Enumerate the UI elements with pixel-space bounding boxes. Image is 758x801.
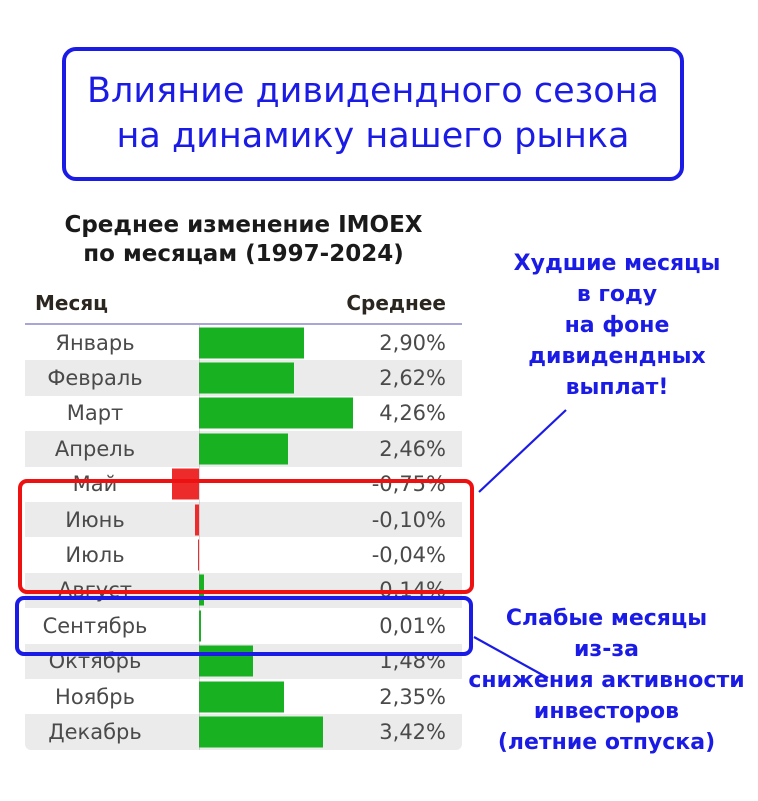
imoex-monthly-table: Месяц Среднее Январь2,90%Февраль2,62%Мар… (25, 283, 462, 750)
zero-line (199, 644, 200, 679)
cell-month: Октябрь (25, 649, 165, 673)
table-row: Сентябрь0,01% (25, 608, 462, 643)
bar-positive (199, 398, 353, 429)
table-row: Август0,14% (25, 573, 462, 608)
cell-month: Июнь (25, 508, 165, 532)
leader-line-worst (479, 410, 566, 492)
cell-average-value: 2,35% (379, 679, 446, 714)
column-header-month: Месяц (25, 291, 175, 315)
table-row: Июнь-0,10% (25, 502, 462, 537)
bar-area: 4,26% (165, 396, 462, 431)
cell-month: Май (25, 472, 165, 496)
cell-average-value: 0,14% (379, 573, 446, 608)
cell-average-value: -0,04% (372, 537, 446, 572)
cell-average-value: 2,62% (379, 360, 446, 395)
title-line-1: Влияние дивидендного сезона (87, 69, 659, 114)
table-row: Январь2,90% (25, 325, 462, 360)
table-body: Январь2,90%Февраль2,62%Март4,26%Апрель2,… (25, 325, 462, 750)
bar-positive (199, 716, 323, 747)
bar-area: -0,04% (165, 537, 462, 572)
cell-average-value: 2,46% (379, 431, 446, 466)
annotation-weak-line-5: (летние отпуска) (455, 727, 758, 758)
bar-area: 0,14% (165, 573, 462, 608)
annotation-worst-line-1: Худшие месяцы (478, 248, 756, 279)
table-row: Февраль2,62% (25, 360, 462, 395)
title-banner: Влияние дивидендного сезона на динамику … (62, 47, 684, 181)
chart-title-line-1: Среднее изменение IMOEX (25, 211, 462, 240)
column-header-average: Среднее (175, 291, 462, 315)
cell-month: Декабрь (25, 720, 165, 744)
annotation-worst-line-2: в году (478, 279, 756, 310)
annotation-worst-line-3: на фоне (478, 310, 756, 341)
table-row: Декабрь3,42% (25, 714, 462, 749)
cell-average-value: 0,01% (379, 608, 446, 643)
bar-positive (199, 681, 284, 712)
table-row: Апрель2,46% (25, 431, 462, 466)
zero-line (199, 714, 200, 749)
cell-average-value: 1,48% (379, 644, 446, 679)
table-row: Ноябрь2,35% (25, 679, 462, 714)
cell-month: Апрель (25, 437, 165, 461)
zero-line (199, 360, 200, 395)
zero-line (199, 679, 200, 714)
bar-area: 2,62% (165, 360, 462, 395)
cell-month: Февраль (25, 366, 165, 390)
table-row: Октябрь1,48% (25, 644, 462, 679)
zero-line (199, 396, 200, 431)
zero-line (199, 573, 200, 608)
title-line-2: на динамику нашего рынка (116, 114, 629, 159)
cell-month: Март (25, 401, 165, 425)
cell-average-value: 4,26% (379, 396, 446, 431)
cell-average-value: -0,75% (372, 467, 446, 502)
annotation-worst-line-4: дивидендных (478, 341, 756, 372)
annotation-weak-line-3: снижения активности (455, 665, 758, 696)
cell-average-value: 3,42% (379, 714, 446, 749)
cell-month: Июль (25, 543, 165, 567)
zero-line (199, 431, 200, 466)
annotation-worst-months: Худшие месяцы в году на фоне дивидендных… (478, 248, 756, 403)
bar-area: 2,46% (165, 431, 462, 466)
bar-negative (172, 469, 199, 500)
zero-line (199, 467, 200, 502)
bar-positive (199, 646, 253, 677)
chart-title-line-2: по месяцам (1997-2024) (25, 240, 462, 269)
cell-month: Ноябрь (25, 685, 165, 709)
annotation-weak-line-2: из-за (455, 634, 758, 665)
cell-month: Август (25, 578, 165, 602)
bar-area: 1,48% (165, 644, 462, 679)
bar-area: 2,90% (165, 325, 462, 360)
bar-positive (199, 327, 304, 358)
zero-line (199, 537, 200, 572)
zero-line (199, 502, 200, 537)
annotation-weak-line-4: инвесторов (455, 696, 758, 727)
zero-line (199, 325, 200, 360)
table-row: Май-0,75% (25, 467, 462, 502)
chart-title: Среднее изменение IMOEX по месяцам (1997… (25, 211, 462, 269)
bar-positive (199, 433, 288, 464)
cell-month: Январь (25, 331, 165, 355)
zero-line (199, 608, 200, 643)
table-header-row: Месяц Среднее (25, 283, 462, 325)
cell-month: Сентябрь (25, 614, 165, 638)
bar-positive (199, 363, 294, 394)
annotation-worst-line-5: выплат! (478, 372, 756, 403)
cell-average-value: 2,90% (379, 325, 446, 360)
bar-area: 2,35% (165, 679, 462, 714)
annotation-weak-line-1: Слабые месяцы (455, 603, 758, 634)
table-row: Июль-0,04% (25, 537, 462, 572)
bar-area: -0,10% (165, 502, 462, 537)
cell-average-value: -0,10% (372, 502, 446, 537)
bar-area: 0,01% (165, 608, 462, 643)
table-row: Март4,26% (25, 396, 462, 431)
annotation-weak-months: Слабые месяцы из-за снижения активности … (455, 603, 758, 758)
bar-area: 3,42% (165, 714, 462, 749)
bar-area: -0,75% (165, 467, 462, 502)
slide-root: Влияние дивидендного сезона на динамику … (0, 0, 758, 801)
